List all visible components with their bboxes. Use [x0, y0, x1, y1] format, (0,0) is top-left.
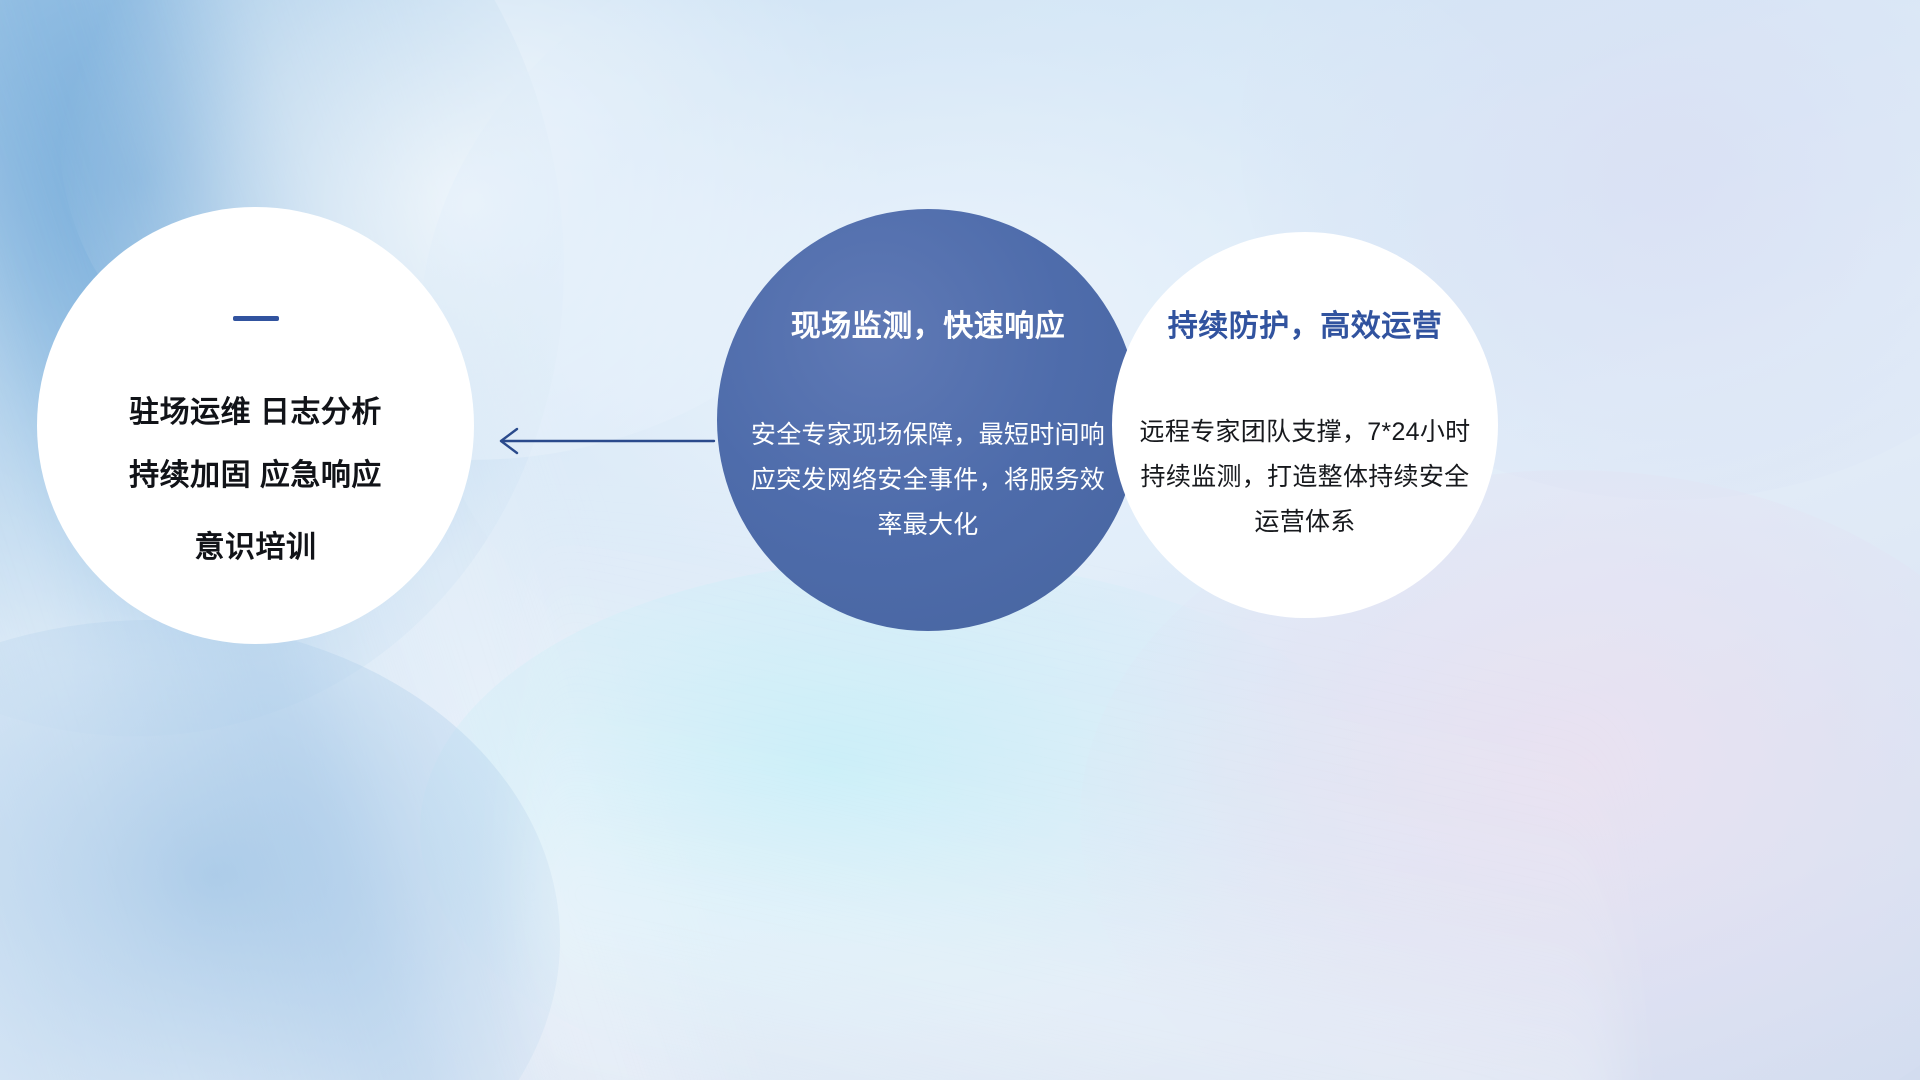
keyword-line-1: 驻场运维 日志分析 — [129, 396, 382, 429]
keyword-line-2: 持续加固 应急响应 — [129, 459, 382, 492]
left-service-keywords: 驻场运维 日志分析 持续加固 应急响应 意识培训 — [37, 381, 474, 579]
arrow-left-icon — [486, 420, 716, 462]
slide-canvas: 驻场运维 日志分析 持续加固 应急响应 意识培训 现场监测，快速响应 安全专家现… — [0, 0, 1920, 1080]
right-operations-circle[interactable]: 持续防护，高效运营 远程专家团队支撑，7*24小时持续监测，打造整体持续安全运营… — [1112, 232, 1498, 618]
center-circle-title: 现场监测，快速响应 — [717, 301, 1139, 345]
left-service-circle[interactable]: 驻场运维 日志分析 持续加固 应急响应 意识培训 — [37, 207, 474, 644]
keyword-line-3: 意识培训 — [37, 516, 474, 579]
right-circle-title: 持续防护，高效运营 — [1112, 301, 1498, 345]
center-circle-body: 安全专家现场保障，最短时间响应突发网络安全事件，将服务效率最大化 — [747, 413, 1109, 548]
divider-accent — [233, 316, 279, 321]
center-onsite-circle[interactable]: 现场监测，快速响应 安全专家现场保障，最短时间响应突发网络安全事件，将服务效率最… — [717, 209, 1139, 631]
right-circle-body: 远程专家团队支撑，7*24小时持续监测，打造整体持续安全运营体系 — [1128, 410, 1482, 545]
